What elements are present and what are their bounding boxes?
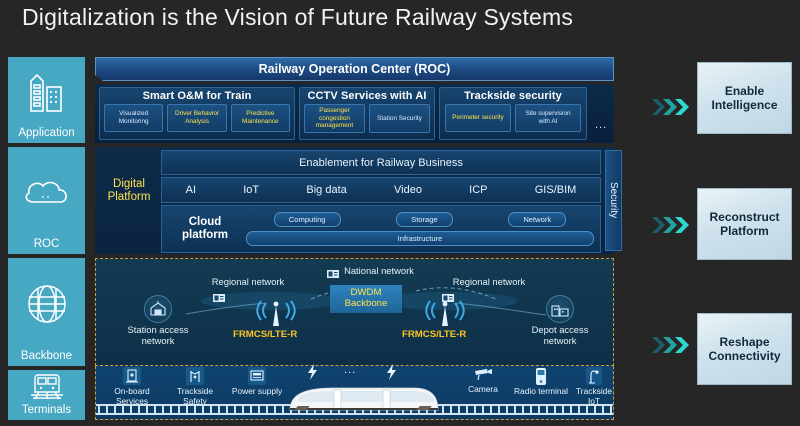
tech-item[interactable]: AI	[186, 184, 196, 196]
chevron-group	[650, 215, 692, 235]
app-chip[interactable]: Visualized Monitoring	[104, 104, 163, 132]
app-chip[interactable]: Site supervision with AI	[515, 104, 581, 132]
terminals-middle-dots: ...	[344, 364, 356, 376]
train-illustration	[288, 386, 440, 412]
onboard-service-icon	[122, 366, 142, 386]
tech-row: AI IoT Big data Video ICP GIS/BIM	[161, 177, 601, 203]
app-group-cctv[interactable]: CCTV Services with AI Passenger congesti…	[299, 87, 435, 140]
station-icon	[144, 295, 172, 323]
chevron-right-icon	[650, 97, 692, 117]
buildings-icon	[8, 57, 85, 127]
lightning-icon	[305, 364, 319, 380]
terminal-label: Trackside Safety	[177, 386, 213, 406]
regional-network-right: Regional network	[449, 277, 529, 288]
lightning-icon	[384, 364, 398, 380]
dwdm-backbone-box[interactable]: DWDM Backbone	[330, 285, 402, 313]
frmcs-lte-label-right: FRMCS/LTE-R	[402, 329, 466, 340]
app-group-title: Smart O&M for Train	[100, 88, 294, 102]
chevron-right-icon	[650, 335, 692, 355]
digital-platform-label: Digital Platform	[99, 178, 159, 204]
station-access-label: Station access network	[128, 324, 189, 346]
app-group-trackside-security[interactable]: Trackside security Perimeter security Si…	[439, 87, 587, 140]
slide-root: Digitalization is the Vision of Future R…	[0, 0, 800, 426]
radio-terminal-icon	[534, 366, 548, 386]
app-group-title: CCTV Services with AI	[300, 88, 434, 102]
app-group-title: Trackside security	[440, 88, 586, 102]
tech-item[interactable]: ICP	[469, 184, 487, 196]
terminal-power-supply[interactable]: Power supply	[228, 366, 286, 397]
outcome-label: Reshape Connectivity	[698, 335, 791, 364]
trackside-iot-icon	[585, 366, 603, 386]
national-network-label-wrap: National network	[337, 266, 421, 277]
terminal-label: Camera	[468, 384, 498, 394]
outcome-label: Enable Intelligence	[698, 84, 791, 113]
sidebar-item-label: ROC	[34, 238, 60, 254]
cloud-capabilities: Computing Storage Network Infrastructure	[242, 212, 594, 246]
terminal-label: Power supply	[232, 386, 282, 396]
page-title: Digitalization is the Vision of Future R…	[22, 4, 573, 31]
outcome-panel-reconstruct-platform[interactable]: Reconstruct Platform	[697, 188, 792, 260]
app-chip-list: Perimeter security Site supervision with…	[440, 102, 586, 132]
depot-access-label: Depot access network	[532, 324, 589, 346]
capability-chip[interactable]: Network	[508, 212, 566, 227]
sidebar-item-label: Application	[18, 127, 74, 143]
cloud-icon	[8, 147, 85, 238]
server-icon	[327, 270, 339, 278]
application-layer: Smart O&M for Train Visualized Monitorin…	[95, 84, 614, 143]
terminal-trackside-iot[interactable]: Trackside IoT	[572, 366, 616, 406]
app-chip[interactable]: Predictive Maintenance	[231, 104, 290, 132]
terminal-label: Radio terminal	[514, 386, 568, 396]
security-label: Security	[608, 182, 619, 218]
sidebar-item-label: Backbone	[21, 350, 72, 366]
regional-network-left-label: Regional network	[212, 276, 284, 287]
digital-platform-inner: Enablement for Railway Business AI IoT B…	[161, 150, 601, 255]
app-chip[interactable]: Passenger congestion management	[304, 104, 365, 133]
outcome-panel-reshape-connectivity[interactable]: Reshape Connectivity	[697, 313, 792, 385]
server-icon	[213, 294, 225, 302]
terminal-camera[interactable]: Camera	[460, 366, 506, 395]
terminal-trackside-safety[interactable]: Trackside Safety	[166, 366, 224, 406]
app-chip[interactable]: Perimeter security	[445, 104, 511, 132]
app-group-smart-om[interactable]: Smart O&M for Train Visualized Monitorin…	[99, 87, 295, 140]
app-chip-list: Passenger congestion management Station …	[300, 102, 434, 133]
outcome-label: Reconstruct Platform	[698, 210, 791, 239]
app-chip[interactable]: Driver Behavior Analysis	[167, 104, 226, 132]
tech-item[interactable]: Big data	[306, 184, 346, 196]
cloud-platform-label: Cloud platform	[168, 216, 242, 241]
regional-network-left: Regional network	[208, 277, 288, 288]
national-network-label: National network	[344, 265, 414, 276]
infrastructure-chip[interactable]: Infrastructure	[246, 231, 594, 246]
app-chip-list: Visualized Monitoring Driver Behavior An…	[100, 102, 294, 132]
app-chip[interactable]: Station Security	[369, 104, 430, 133]
cloud-platform-row: Cloud platform Computing Storage Network…	[161, 205, 601, 253]
chevron-right-icon	[650, 215, 692, 235]
capability-chip[interactable]: Computing	[274, 212, 341, 227]
sidebar-item-label: Terminals	[22, 404, 71, 420]
sidebar-item-terminals[interactable]: Terminals	[8, 370, 85, 420]
dwdm-line2: Backbone	[345, 299, 388, 310]
application-more-dots[interactable]: ...	[595, 119, 607, 131]
terminal-onboard-services[interactable]: On-board Services	[105, 366, 159, 406]
tech-item[interactable]: GIS/BIM	[535, 184, 577, 196]
enablement-row: Enablement for Railway Business	[161, 150, 601, 175]
sidebar-item-backbone[interactable]: Backbone	[8, 258, 85, 366]
sidebar-item-application[interactable]: Application	[8, 57, 85, 143]
tech-item[interactable]: Video	[394, 184, 422, 196]
sidebar-item-roc[interactable]: ROC	[8, 147, 85, 254]
frmcs-lte-label-left: FRMCS/LTE-R	[233, 329, 297, 340]
chevron-group	[650, 335, 692, 355]
trackside-safety-icon	[185, 366, 205, 386]
camera-icon	[473, 366, 493, 384]
power-supply-icon	[247, 366, 267, 386]
terminal-radio-terminal[interactable]: Radio terminal	[512, 366, 570, 397]
chevron-group	[650, 97, 692, 117]
outcome-panel-enable-intelligence[interactable]: Enable Intelligence	[697, 62, 792, 134]
train-icon	[8, 370, 85, 404]
tech-item[interactable]: IoT	[243, 184, 259, 196]
capability-chip[interactable]: Storage	[396, 212, 453, 227]
roc-banner: Railway Operation Center (ROC)	[95, 57, 614, 81]
depot-access-node[interactable]: Depot access network	[520, 295, 600, 347]
globe-icon	[8, 258, 85, 350]
regional-network-right-label: Regional network	[453, 276, 525, 287]
terminal-label: Trackside IoT	[576, 386, 612, 406]
terminal-label: On-board Services	[114, 386, 149, 406]
station-access-node[interactable]: Station access network	[116, 295, 200, 347]
security-bar[interactable]: Security	[605, 150, 622, 251]
depot-icon	[546, 295, 574, 323]
